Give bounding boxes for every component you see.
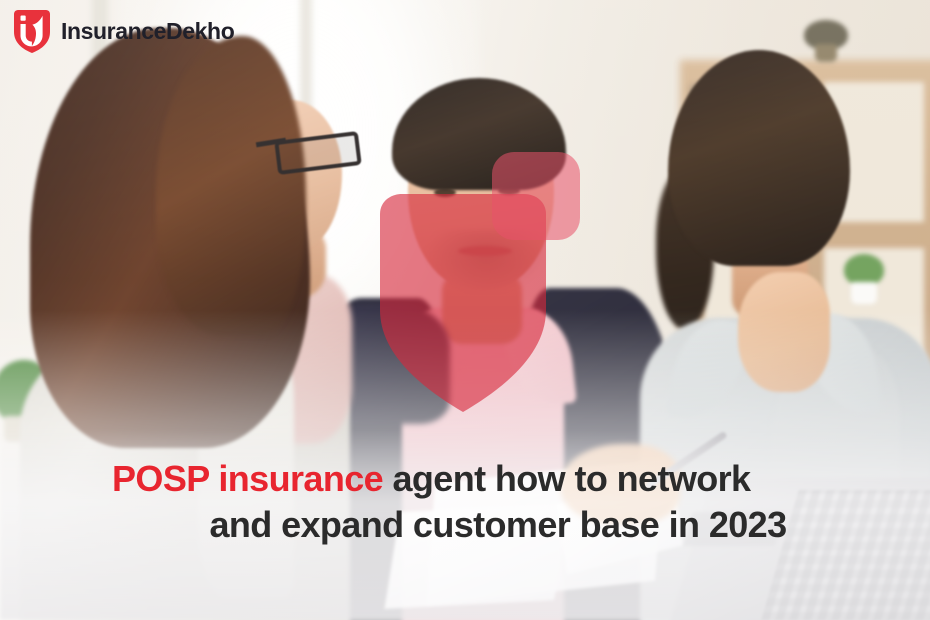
hair [668,50,850,266]
beard-shadow [426,230,546,292]
hair [392,78,566,190]
brand-logo[interactable]: InsuranceDekho [12,8,234,54]
page-title: POSP insurance agent how to network and … [112,456,912,548]
headline-line1-rest: agent how to network [383,458,750,499]
brand-name: InsuranceDekho [61,20,234,43]
headline-line2: and expand customer base in 2023 [112,502,912,548]
mouth [458,246,512,256]
promo-banner: InsuranceDekho POSP insurance agent how … [0,0,930,620]
shield-logo-icon [12,8,52,54]
headline-accent: POSP insurance [112,458,383,499]
hand-on-chin [738,272,830,392]
